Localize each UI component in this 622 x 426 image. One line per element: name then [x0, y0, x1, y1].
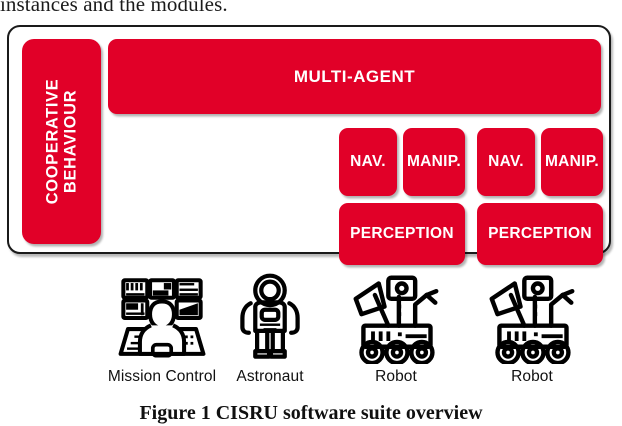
body-text-fragment: instances and the modules. — [0, 0, 622, 17]
astronaut-icon — [200, 268, 340, 364]
block-nav-1: NAV. — [339, 128, 397, 196]
block-perception-2: PERCEPTION — [477, 203, 603, 265]
actor-robot-2: Robot — [462, 268, 602, 386]
block-manip-1: MANIP. — [403, 128, 465, 196]
actor-caption: Robot — [326, 368, 466, 386]
block-cooperative-behaviour: COOPERATIVE BEHAVIOUR — [22, 39, 101, 244]
cooperative-behaviour-line2: BEHAVIOUR — [62, 79, 80, 204]
actor-astronaut: Astronaut — [200, 268, 340, 386]
actor-row: Mission Control — [0, 268, 622, 398]
block-manip-2: MANIP. — [541, 128, 603, 196]
figure-caption: Figure 1 CISRU software suite overview — [0, 402, 622, 425]
actor-caption: Robot — [462, 368, 602, 386]
software-suite-diagram: COOPERATIVE BEHAVIOUR MULTI-AGENT NAV. M… — [7, 25, 611, 254]
rover-robot-icon — [326, 268, 466, 364]
block-nav-2: NAV. — [477, 128, 535, 196]
actor-robot-1: Robot — [326, 268, 466, 386]
block-multi-agent: MULTI-AGENT — [108, 39, 601, 114]
block-perception-1: PERCEPTION — [339, 203, 465, 265]
cooperative-behaviour-line1: COOPERATIVE — [43, 79, 61, 204]
figure-page: instances and the modules. COOPERATIVE B… — [0, 0, 622, 426]
actor-caption: Astronaut — [200, 368, 340, 386]
rover-robot-icon — [462, 268, 602, 364]
